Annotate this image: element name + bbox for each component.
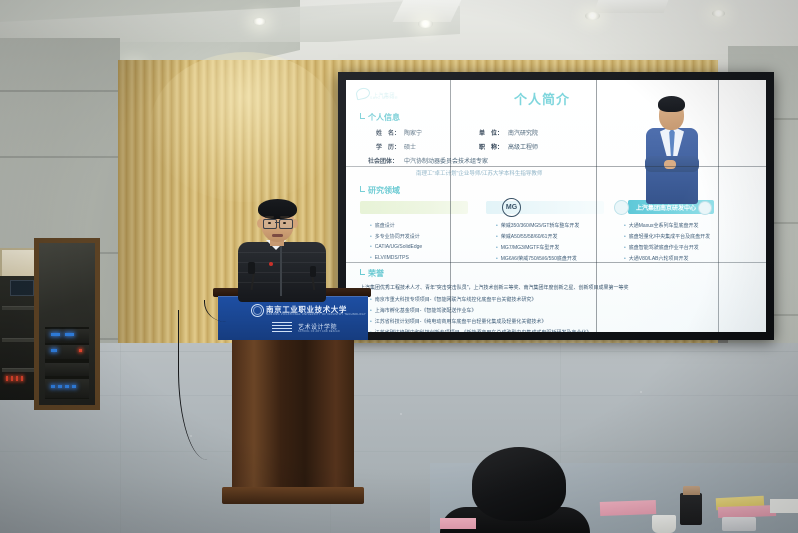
honor-paragraph: 上汽集团优秀工程技术人才、青年"突击突击队员"，上汽技术创新三等奖、南汽集团年度… [360,284,629,291]
eyeglasses-right-lens [279,219,293,229]
downlight [253,18,266,25]
podium-school-name-en: SCHOOL OF ART AND DESIGN [298,330,340,333]
microphone[interactable] [248,262,255,274]
project-item: 江苏省科技计划项目-《纯电动商用车底盘平台轻量化集成及轻量化关键技术》 [370,318,546,325]
project-item: 江苏省碳达峰碳中和科技创新专项项目-《新能源商用车总成改型中央集成式电驱桥研发及… [370,329,591,332]
phone [722,517,756,531]
field-label-title: 职 称： [479,142,503,151]
pink-paper [440,518,476,529]
field-value-title: 高级工程师 [508,142,538,151]
research-item: 多专业协同开发设计 [370,233,420,240]
speaker-eye [283,222,286,224]
slide-section-research: 研究领域 [360,185,400,196]
eyeglasses-left-lens [263,219,277,229]
panel-seam [346,166,766,167]
research-item: 底盘轻量化/中央集成平台及底盘开发 [624,233,710,240]
speaker-mouth [272,234,283,237]
panel-seam [450,80,451,332]
speaker-eyebrow [280,216,289,218]
research-item: ELV/IMDS/TPS [370,255,409,261]
university-seal-icon [251,304,264,317]
speaker-eye [268,222,271,224]
field-label-education: 学 历： [376,142,400,151]
field-label-affiliation: 社会团体： [368,156,398,165]
field-value-unit: 南汽研究院 [508,128,538,137]
audience-head [472,447,566,521]
video-wall-display[interactable]: 上汽集团 SAIC MOTOR 个人简介 个人信息 姓 名： 陶家宁 单 位： … [346,80,766,332]
research-item: MG6/i6/荣威750/i5/i6/550底盘开发 [496,255,577,262]
presentation-slide: 上汽集团 SAIC MOTOR 个人简介 个人信息 姓 名： 陶家宁 单 位： … [346,80,766,332]
podium-body [232,340,354,492]
research-item: 荣威350/360/MG5/GT轿车整车开发 [496,222,579,229]
podium-base [222,487,364,504]
panel-seam [596,80,597,332]
research-item: 荣威A50/55/58/60/61开发 [496,233,557,240]
white-paper [770,499,798,513]
research-item: 大通V80/LAB六轮项目开发 [624,255,689,262]
partner-roundel [614,200,629,215]
field-value-affiliation: 中汽协制动器委员会技术组专家 [404,156,488,165]
bottle-cap [683,486,700,495]
column-band-3-label: 上汽集团南京研发中心 [636,203,696,212]
research-item: MG7/MG3/MGTF车型开发 [496,244,559,251]
slide-portrait-hair [658,96,685,112]
downlight [585,12,600,20]
research-item: 底盘设计 [370,222,395,229]
research-item: 底盘智能驾驶底盘作业平台开发 [624,244,699,251]
bottle [680,493,702,525]
field-label-unit: 单 位： [479,128,503,137]
slide-brand-sub: SAIC MOTOR [370,96,398,100]
lecture-hall-photo: 上汽集团 SAIC MOTOR 个人简介 个人信息 姓 名： 陶家宁 单 位： … [0,0,798,533]
lapel-badge [269,262,273,266]
panel-seam [346,262,766,263]
partner-roundel [698,201,712,215]
field-affiliation-note: 南理工"卓工计划"企业导师/江苏大学本科生指导教师 [416,169,542,177]
project-item: 上海市孵化基金项目-《智能驾驶配送作业车》 [370,307,476,314]
jacket-zipper [280,246,282,296]
panel-seam [718,80,719,332]
slide-section-honors: 荣誉 [360,268,384,279]
ceiling-light-strip [393,0,462,22]
downlight [712,10,725,17]
microphone[interactable] [310,266,316,277]
slide-portrait-hand [664,160,676,169]
research-item: CATIA/UG/SolidEdge [370,244,422,250]
podium-university-name-en: NANJING VOCATIONAL UNIVERSITY OF INDUSTR… [266,313,366,316]
slide-section-personal-info: 个人信息 [360,112,400,123]
downlight [418,20,433,28]
podium-front-panel[interactable]: 南京工业职业技术大学 NANJING VOCATIONAL UNIVERSITY… [218,296,368,340]
field-label-name: 姓 名： [376,128,400,137]
speaker-eyebrow [265,216,274,218]
column-band-1 [360,201,468,214]
speaker-hair [258,199,297,219]
slide-title: 个人简介 [514,89,570,108]
field-value-name: 陶家宁 [404,128,422,137]
project-item: 南京市重大科技专项项目-《智能网联汽车线控化底盘平台关键技术研究》 [370,296,536,303]
brand-mark-mg: MG [502,198,521,217]
research-item: 大通Maxus全系列车型底盘开发 [624,222,699,229]
rack-monitor [10,280,34,296]
field-value-education: 硕士 [404,142,416,151]
school-logo-bars-icon [272,322,292,333]
eyeglasses-bridge [275,222,279,223]
equipment-cabinet [34,238,100,410]
paper-cup [652,515,676,533]
pink-paper [600,500,656,516]
ceiling-light-strip [594,0,669,13]
